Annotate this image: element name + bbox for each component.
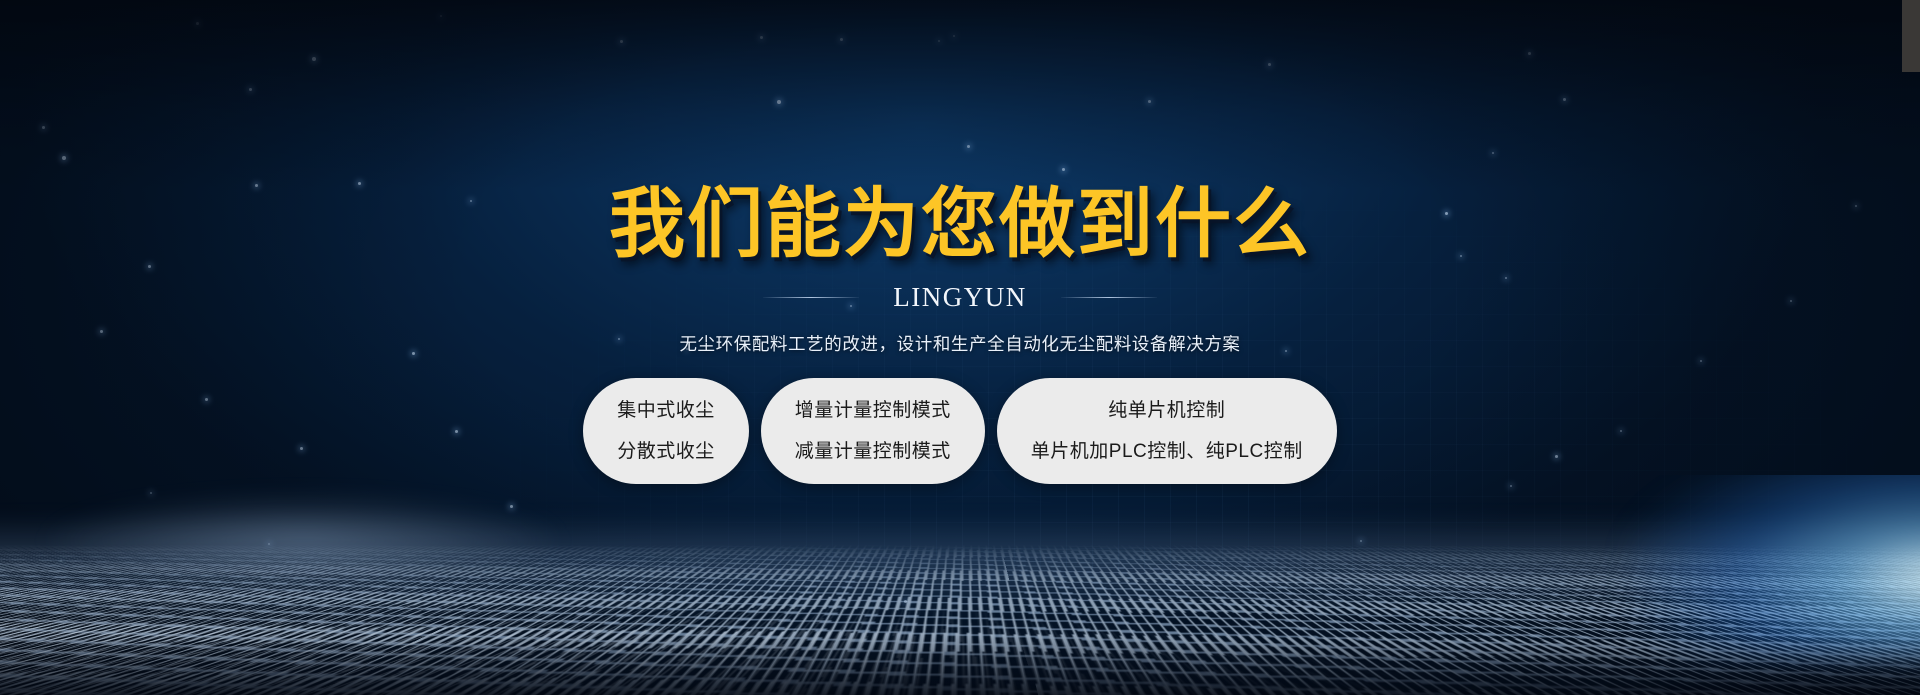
- page-title: 我们能为您做到什么: [609, 186, 1311, 262]
- feature-pill[interactable]: 集中式收尘分散式收尘: [583, 378, 749, 484]
- feature-pill-line-1: 增量计量控制模式: [795, 401, 951, 420]
- feature-pill-line-2: 单片机加PLC控制、纯PLC控制: [1031, 442, 1303, 461]
- feature-pill[interactable]: 纯单片机控制单片机加PLC控制、纯PLC控制: [997, 378, 1337, 484]
- subtitle-description: 无尘环保配料工艺的改进，设计和生产全自动化无尘配料设备解决方案: [679, 331, 1240, 356]
- feature-pill-line-2: 分散式收尘: [617, 442, 715, 461]
- feature-pill-line-2: 减量计量控制模式: [795, 442, 951, 461]
- feature-pill-list: 集中式收尘分散式收尘增量计量控制模式减量计量控制模式纯单片机控制单片机加PLC控…: [583, 378, 1336, 484]
- divider-line-left: [763, 297, 859, 298]
- feature-pill-line-1: 集中式收尘: [617, 401, 715, 420]
- feature-pill[interactable]: 增量计量控制模式减量计量控制模式: [761, 378, 985, 484]
- divider-line-right: [1061, 297, 1157, 298]
- feature-pill-line-1: 纯单片机控制: [1031, 401, 1303, 420]
- scrollbar-thumb[interactable]: [1902, 0, 1920, 72]
- brand-name: LINGYUN: [893, 282, 1026, 313]
- banner-content: 我们能为您做到什么 LINGYUN 无尘环保配料工艺的改进，设计和生产全自动化无…: [0, 0, 1920, 695]
- hero-banner: 我们能为您做到什么 LINGYUN 无尘环保配料工艺的改进，设计和生产全自动化无…: [0, 0, 1920, 695]
- brand-row: LINGYUN: [763, 282, 1156, 313]
